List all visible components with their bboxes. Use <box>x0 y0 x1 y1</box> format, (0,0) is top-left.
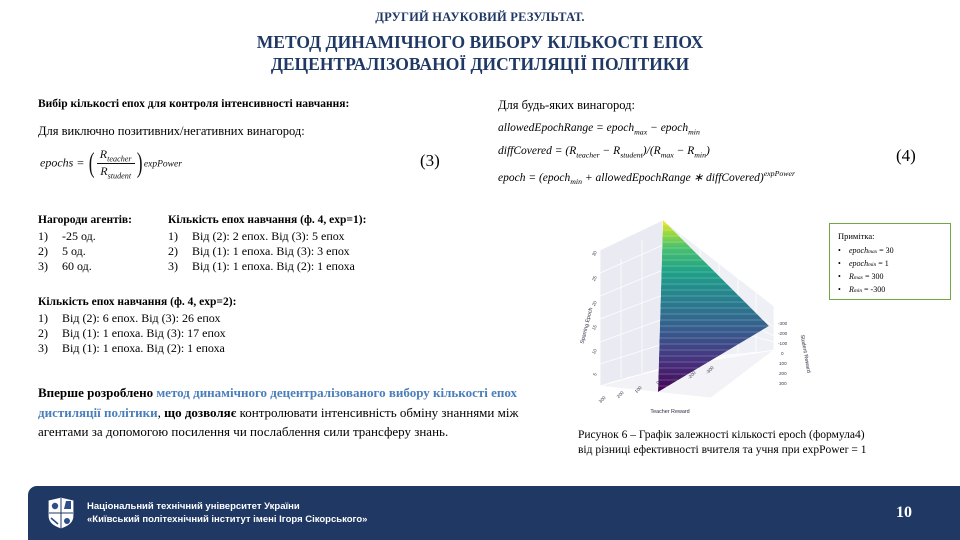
epochs-exp1-heading: Кількість епох навчання (ф. 4, exp=1): <box>168 214 448 226</box>
epochs-exp1-list: 1)Від (2): 2 епох. Від (3): 5 епох 2)Від… <box>168 229 448 274</box>
slide-root: ДРУГИЙ НАУКОВИЙ РЕЗУЛЬТАТ. МЕТОД ДИНАМІЧ… <box>0 0 960 540</box>
right-column: Для будь-яких винагород: allowedEpochRan… <box>498 98 948 195</box>
page-title: МЕТОД ДИНАМІЧНОГО ВИБОРУ КІЛЬКОСТІ ЕПОХ … <box>0 31 960 75</box>
item-text: 60 од. <box>62 259 92 274</box>
item-text: Від (1): 1 епоха. Від (3): 3 епох <box>192 244 350 259</box>
list-item: 2)Від (1): 1 епоха. Від (3): 3 епох <box>168 244 448 259</box>
note-box: Примітка: •epochmax = 30 •epochmin = 1 •… <box>829 223 951 300</box>
chart-yticks: -300 -200 -100 0 100 200 300 <box>778 321 788 386</box>
surface-chart: 30 25 20 15 10 5 Sparring Epoch 300 200 … <box>578 208 828 420</box>
item-marker: 1) <box>168 229 192 244</box>
frac-num-base: R <box>100 147 107 161</box>
xtick: 200 <box>616 390 625 399</box>
item-marker: 3) <box>38 341 62 356</box>
left-column: Вибір кількості епох для контроля інтенс… <box>38 98 498 183</box>
slide-title-block: ДРУГИЙ НАУКОВИЙ РЕЗУЛЬТАТ. МЕТОД ДИНАМІЧ… <box>0 10 960 75</box>
conclusion-bold-2: що дозволяє <box>164 405 236 420</box>
chart-svg: 30 25 20 15 10 5 Sparring Epoch 300 200 … <box>578 208 828 420</box>
paren-close: ) <box>136 151 142 176</box>
rewards-heading: Нагороди агентів: <box>38 214 168 226</box>
note-title: Примітка: <box>838 231 944 241</box>
equation-number-3: (3) <box>420 151 440 171</box>
ztick: 20 <box>591 300 598 307</box>
item-text: Від (1): 1 епоха. Від (2): 1 епоха <box>192 259 355 274</box>
note-item-sub: max <box>854 273 863 284</box>
conclusion-part-1: Вперше розроблено <box>38 385 156 400</box>
ytick: 100 <box>779 361 787 366</box>
item-marker: 2) <box>168 244 192 259</box>
item-text: Від (2): 6 епох. Від (3): 26 епох <box>62 311 220 326</box>
ztick: 30 <box>591 250 598 257</box>
formula-3-row: epochs = (RteacherRstudent)expPower (3) <box>38 147 498 183</box>
note-item-value: = -300 <box>864 284 885 295</box>
item-text: Від (1): 1 епоха. Від (3): 17 епох <box>62 326 226 341</box>
epochs-exp1-column: Кількість епох навчання (ф. 4, exp=1): 1… <box>168 214 448 274</box>
footer-bar: Національний технічний університет Украї… <box>28 486 960 540</box>
frac-num-sub: teacher <box>107 154 131 163</box>
paren-open: ( <box>89 151 95 176</box>
bullet-icon: • <box>838 284 849 295</box>
note-item-value: = 300 <box>865 271 884 282</box>
ztick: 15 <box>591 324 598 331</box>
conclusion-paragraph: Вперше розроблено метод динамічного деце… <box>38 383 538 442</box>
ytick: -200 <box>778 331 788 336</box>
list-item: 2)5 од. <box>38 244 168 259</box>
lead-heading: Вибір кількості епох для контроля інтенс… <box>38 98 498 110</box>
note-item-sub: min <box>854 286 862 297</box>
list-item: •Rmax = 300 <box>838 271 944 284</box>
chart-ylabel: Student Reward <box>799 334 812 373</box>
formula-4-block: allowedEpochRange = epochmax − epochmin … <box>498 122 948 186</box>
formula-3-exponent: expPower <box>144 160 182 170</box>
equation-number-4: (4) <box>896 146 916 166</box>
list-item: 3)Від (1): 1 епоха. Від (2): 1 епоха <box>38 341 368 356</box>
item-text: Від (1): 1 епоха. Від (2): 1 епоха <box>62 341 225 356</box>
xtick: 300 <box>598 395 607 404</box>
any-rewards-label: Для будь-яких винагород: <box>498 98 948 113</box>
note-item-name: epoch <box>849 245 868 256</box>
epochs-exp2-list: 1)Від (2): 6 епох. Від (3): 26 епох 2)Ві… <box>38 311 368 356</box>
formula-4-line-1: allowedEpochRange = epochmax − epochmin <box>498 122 948 136</box>
caption-line-2: від різниці ефективності вчителя та учня… <box>578 443 948 458</box>
epochs-exp2-heading: Кількість епох навчання (ф. 4, exp=2): <box>38 296 368 308</box>
page-number: 10 <box>896 504 912 522</box>
university-line-2: «Київський політехнічний інститут імені … <box>87 513 367 527</box>
frac-den-sub: student <box>108 172 132 181</box>
formula-3-fraction: RteacherRstudent <box>97 147 135 181</box>
formula-4-line-2: diffCovered = (Rteacher − Rstudent)/(Rma… <box>498 145 948 159</box>
item-marker: 1) <box>38 311 62 326</box>
ytick: -300 <box>778 321 788 326</box>
university-line-1: Національний технічний університет Украї… <box>87 500 367 514</box>
list-item: 3)60 од. <box>38 259 168 274</box>
list-item: 1)Від (2): 6 епох. Від (3): 26 епох <box>38 311 368 326</box>
positive-negative-label: Для виключно позитивних/негативних винаг… <box>38 124 498 139</box>
ytick: 0 <box>781 351 784 356</box>
item-text: -25 од. <box>62 229 96 244</box>
item-text: 5 од. <box>62 244 86 259</box>
item-marker: 1) <box>38 229 62 244</box>
formula-3-equals: = <box>76 156 84 170</box>
chart-xlabel: Teacher Reward <box>650 409 689 415</box>
lists-block-exp1: Нагороди агентів: 1)-25 од. 2)5 од. 3)60… <box>38 214 458 274</box>
note-item-sub: min <box>868 260 876 271</box>
list-item: •epochmin = 1 <box>838 258 944 271</box>
formula-3: epochs = (RteacherRstudent)expPower <box>40 147 182 181</box>
list-item: 3)Від (1): 1 епоха. Від (2): 1 епоха <box>168 259 448 274</box>
ztick: 5 <box>592 372 598 377</box>
figure-caption: Рисунок 6 – Графік залежності кількості … <box>578 428 948 458</box>
ytick: -100 <box>778 341 788 346</box>
note-item-name: epoch <box>849 258 868 269</box>
list-item: 1)-25 од. <box>38 229 168 244</box>
ytick: 300 <box>779 381 787 386</box>
list-item: •Rmin = -300 <box>838 284 944 297</box>
lists-block-exp2: Кількість епох навчання (ф. 4, exp=2): 1… <box>38 296 368 356</box>
item-marker: 2) <box>38 244 62 259</box>
frac-den-base: R <box>100 164 107 178</box>
item-marker: 3) <box>168 259 192 274</box>
list-item: 2)Від (1): 1 епоха. Від (3): 17 епох <box>38 326 368 341</box>
bullet-icon: • <box>838 271 849 282</box>
ytick: 200 <box>779 371 787 376</box>
university-name: Національний технічний університет Украї… <box>87 500 367 527</box>
item-marker: 3) <box>38 259 62 274</box>
note-item-sub: max <box>868 247 877 258</box>
bullet-icon: • <box>838 245 849 256</box>
formula-3-lhs: epochs <box>40 156 73 170</box>
note-item-value: = 30 <box>879 245 894 256</box>
list-item: 1)Від (2): 2 епох. Від (3): 5 епох <box>168 229 448 244</box>
bullet-icon: • <box>838 258 849 269</box>
kpi-logo-icon <box>46 496 76 530</box>
title-line-2: ДЕЦЕНТРАЛІЗОВАНОЇ ДИСТИЛЯЦІЇ ПОЛІТИКИ <box>0 53 960 75</box>
note-item-value: = 1 <box>878 258 889 269</box>
rewards-list: 1)-25 од. 2)5 од. 3)60 од. <box>38 229 168 274</box>
list-item: •epochmax = 30 <box>838 245 944 258</box>
caption-line-1: Рисунок 6 – Графік залежності кількості … <box>578 428 948 443</box>
rewards-column: Нагороди агентів: 1)-25 од. 2)5 од. 3)60… <box>38 214 168 274</box>
ztick: 25 <box>591 275 598 282</box>
item-marker: 2) <box>38 326 62 341</box>
item-text: Від (2): 2 епох. Від (3): 5 епох <box>192 229 344 244</box>
title-kicker: ДРУГИЙ НАУКОВИЙ РЕЗУЛЬТАТ. <box>0 10 960 25</box>
ztick: 10 <box>591 348 598 355</box>
note-list: •epochmax = 30 •epochmin = 1 •Rmax = 300… <box>838 245 944 297</box>
title-line-1: МЕТОД ДИНАМІЧНОГО ВИБОРУ КІЛЬКОСТІ ЕПОХ <box>0 31 960 53</box>
formula-4-line-3: epoch = (epochmin + allowedEpochRange ∗ … <box>498 169 948 186</box>
